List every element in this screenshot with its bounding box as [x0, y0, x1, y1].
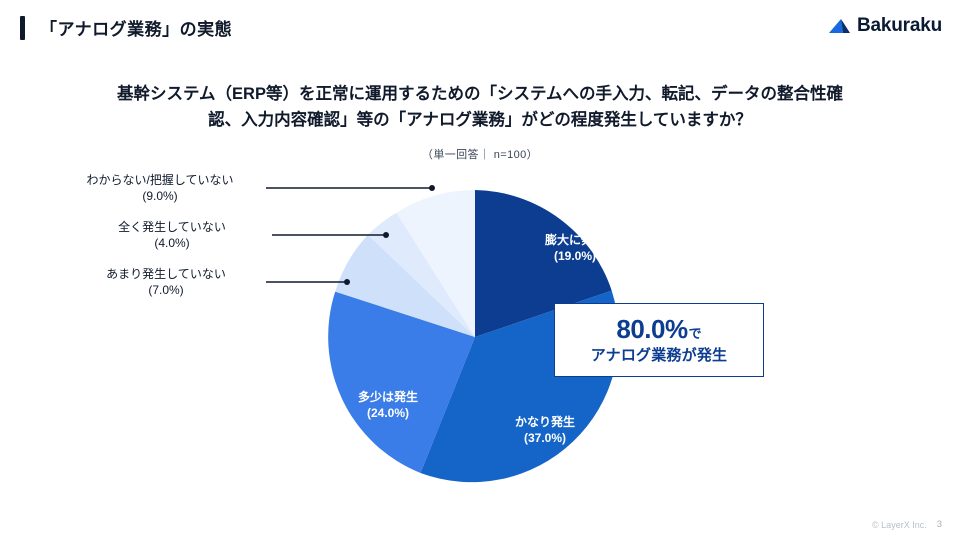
- copyright-text: © LayerX Inc.: [872, 520, 927, 530]
- question-line-2: 認、入力内容確認」等の「アナログ業務」がどの程度発生していますか？: [60, 108, 900, 134]
- pie-leader-label-wakaranai-name: わからない/把握していない: [87, 173, 234, 187]
- page-title: 「アナログ業務」の実態: [40, 15, 232, 40]
- brand-name: Bakuraku: [857, 15, 942, 37]
- highlight-callout: 80.0% で アナログ業務が発生: [554, 303, 764, 377]
- pie-leader-label-mattaku-name: 全く発生していない: [118, 220, 226, 234]
- highlight-suffix: で: [689, 327, 702, 340]
- pie-label-kanari-name: かなり発生: [515, 415, 575, 429]
- pie-label-tashou-pct: (24.0%): [367, 406, 409, 420]
- question-text: 基幹システム（ERP等）を正常に運用するための「システムへの手入力、転記、データ…: [60, 82, 900, 133]
- slide-root: 「アナログ業務」の実態 Bakuraku 基幹システム（ERP等）を正常に運用す…: [0, 0, 960, 540]
- highlight-subtext: アナログ業務が発生: [591, 344, 728, 365]
- brand-logo: Bakuraku: [828, 15, 942, 37]
- highlight-headline: 80.0% で: [616, 316, 701, 342]
- pie-leader-label-mattaku-pct: (4.0%): [154, 236, 189, 250]
- pie-label-bodai: 膨大に発生 (19.0%): [500, 232, 650, 264]
- pie-label-bodai-pct: (19.0%): [554, 249, 596, 263]
- pie-slice-tashou: [328, 292, 475, 473]
- survey-subnote: （単一回答｜ n=100）: [0, 146, 960, 162]
- pie-slice-wakaranai: [397, 190, 476, 337]
- pie-leader-label-wakaranai: わからない/把握していない (9.0%): [60, 172, 260, 204]
- slide-header: 「アナログ業務」の実態 Bakuraku: [0, 0, 960, 56]
- slide-footer: © LayerX Inc. 3: [872, 519, 942, 530]
- pie-leader-label-amari-name: あまり発生していない: [106, 267, 226, 281]
- page-number: 3: [937, 519, 942, 530]
- question-line-1: 基幹システム（ERP等）を正常に運用するための「システムへの手入力、転記、データ…: [60, 82, 900, 108]
- pie-label-bodai-name: 膨大に発生: [545, 233, 605, 247]
- pie-label-kanari-pct: (37.0%): [524, 431, 566, 445]
- pie-leader-label-wakaranai-pct: (9.0%): [142, 189, 177, 203]
- header-accent-bar: [20, 16, 25, 40]
- leader-lines: [266, 185, 435, 285]
- pie-leader-label-mattaku: 全く発生していない (4.0%): [72, 219, 272, 251]
- pie-leader-label-amari: あまり発生していない (7.0%): [66, 266, 266, 298]
- pie-label-kanari: かなり発生 (37.0%): [470, 414, 620, 446]
- highlight-percent: 80.0%: [616, 316, 687, 342]
- pie-leader-label-amari-pct: (7.0%): [148, 283, 183, 297]
- pie-slice-mattaku: [368, 213, 475, 337]
- triangle-mountain-icon: [828, 18, 852, 34]
- pie-label-tashou-name: 多少は発生: [358, 390, 418, 404]
- pie-label-tashou: 多少は発生 (24.0%): [318, 389, 458, 421]
- pie-slice-amari: [335, 235, 475, 337]
